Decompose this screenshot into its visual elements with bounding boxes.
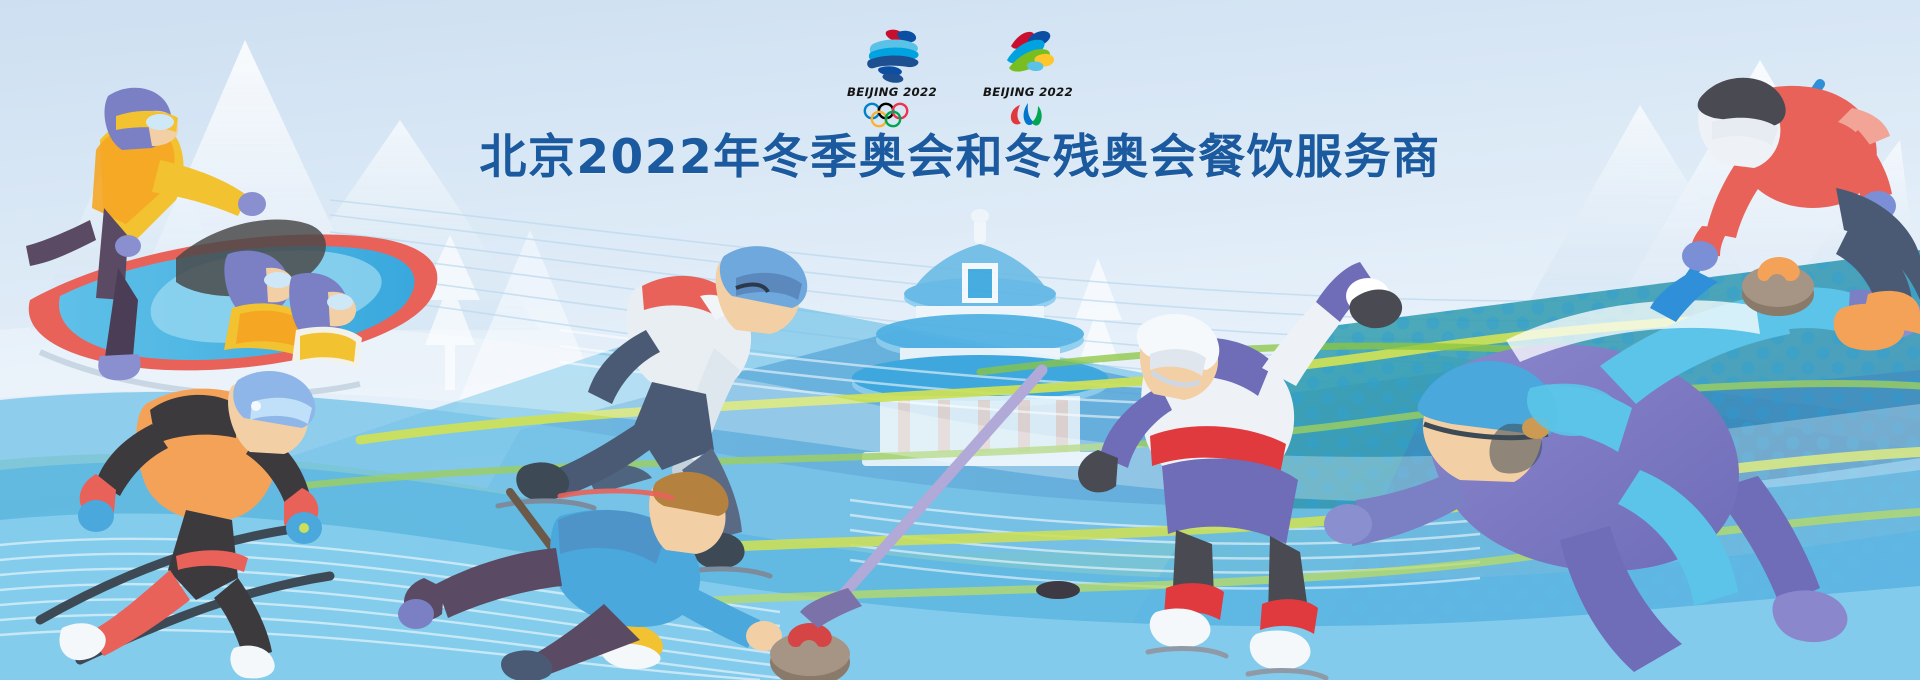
curling-stone-red [770, 623, 850, 680]
ice-wave-light [0, 514, 1920, 680]
temple-of-heaven [852, 209, 1108, 466]
speed-skater-right [1324, 287, 1920, 672]
ice-wave-back [0, 392, 1920, 680]
olympic-emblem-wordmark: BEIJING 2022 [845, 87, 939, 99]
ribbon-lines [300, 316, 1920, 606]
emblem-row: BEIJING 2022 BEIJING 2022 [846, 26, 1074, 128]
skate-blade-detail [560, 464, 672, 498]
green-slope-mid [0, 493, 1260, 680]
green-slope-left [0, 454, 1320, 680]
curling-stone-grey [1742, 257, 1814, 316]
beijing-2022-catering-banner: BEIJING 2022 BEIJING 2022 [0, 0, 1920, 680]
paralympic-emblem-wordmark: BEIJING 2022 [981, 87, 1075, 99]
blue-ridge [0, 300, 1920, 680]
olympic-emblem-mark [861, 26, 923, 84]
banner-title: 北京2022年冬季奥会和冬残奥会餐饮服务商 [0, 118, 1920, 187]
cross-country-skier [40, 371, 330, 678]
bobsleigh-crew-3 [289, 273, 362, 368]
bobsleigh-crew-2 [224, 251, 306, 356]
paralympic-emblem-mark [997, 26, 1059, 84]
ice-wave-front [0, 462, 1920, 680]
contour-lines [330, 200, 1620, 415]
beijing-2022-olympic-emblem: BEIJING 2022 [846, 26, 938, 128]
ice-hockey-player [800, 262, 1402, 678]
pine-trees [420, 235, 1370, 400]
speed-skater-left [498, 246, 807, 576]
beijing-2022-paralympic-emblem: BEIJING 2022 [982, 26, 1074, 128]
curler-sliding [398, 472, 850, 680]
snow-stripes [0, 330, 1480, 680]
halftone-wedge [1100, 250, 1920, 680]
